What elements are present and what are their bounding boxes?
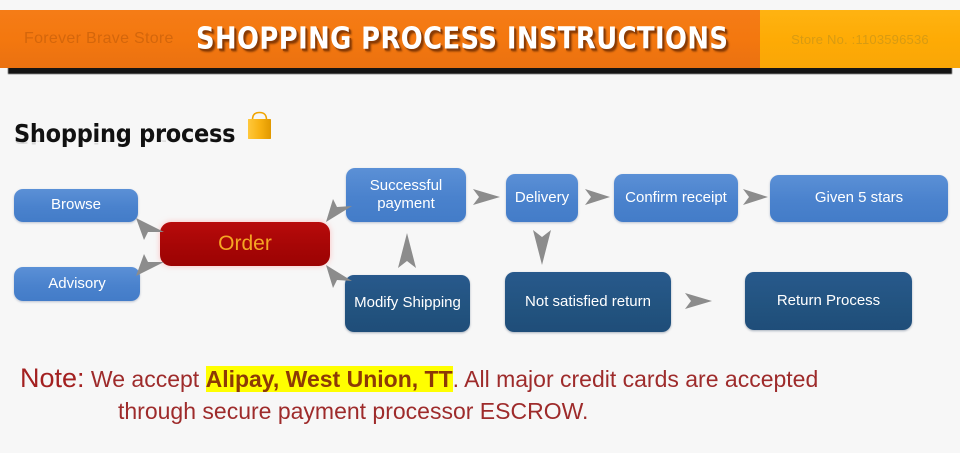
note-highlight-payment-methods: Alipay, West Union, TT (206, 366, 453, 392)
arrow-modify-shipping-to-successful-payment (396, 232, 418, 270)
flow-node-label: Given 5 stars (815, 189, 903, 207)
arrow-browse-to-order (134, 216, 168, 242)
flow-node-label: Confirm receipt (625, 189, 727, 207)
banner-bar: Forever Brave Store SHOPPING PROCESS INS… (0, 10, 960, 68)
arrow-delivery-to-not-satisfied-return (531, 228, 553, 266)
shopping-process-instructions-page: Forever Brave Store SHOPPING PROCESS INS… (0, 0, 960, 453)
flow-node-successful-payment[interactable]: Successful payment (346, 168, 466, 222)
shopping-bag-icon (243, 109, 276, 141)
flow-node-label: Advisory (48, 275, 106, 293)
banner-title: SHOPPING PROCESS INSTRUCTIONS (196, 22, 728, 57)
flow-node-advisory[interactable]: Advisory (14, 267, 140, 301)
section-heading: Shopping process Shopping process (14, 108, 260, 148)
flow-node-label: Not satisfied return (525, 293, 651, 311)
note-text-post: . All major credit cards are accepted (453, 366, 819, 392)
arrow-not-satisfied-return-to-return-process (684, 290, 714, 312)
flow-node-confirm-receipt[interactable]: Confirm receipt (614, 174, 738, 222)
arrow-successful-payment-to-delivery (472, 186, 502, 208)
store-number: Store No. :1103596536 (791, 32, 929, 47)
flow-node-browse[interactable]: Browse (14, 189, 138, 222)
flow-node-given-5-stars[interactable]: Given 5 stars (770, 175, 948, 222)
arrow-confirm-receipt-to-given-5-stars (742, 186, 770, 208)
note-line-2: through secure payment processor ESCROW. (118, 394, 588, 429)
shopping-process-flowchart: Browse Advisory Order Successful payment… (0, 160, 960, 345)
flow-node-order[interactable]: Order (160, 222, 330, 266)
arrow-order-to-successful-payment (324, 198, 356, 224)
note-line-1: Note: We accept Alipay, West Union, TT. … (20, 358, 818, 399)
flow-node-label: Modify Shipping (354, 294, 461, 312)
banner-left-panel: Forever Brave Store SHOPPING PROCESS INS… (0, 10, 760, 68)
flow-node-label: Successful payment (352, 177, 460, 214)
arrow-delivery-to-confirm-receipt (584, 186, 612, 208)
flow-node-return-process[interactable]: Return Process (745, 272, 912, 330)
flow-node-modify-shipping[interactable]: Modify Shipping (345, 275, 470, 332)
note-text-pre: We accept (85, 366, 206, 392)
arrow-order-to-modify-shipping (324, 263, 356, 289)
flow-node-label: Delivery (515, 189, 569, 207)
note-label: Note: (20, 363, 85, 393)
banner-right-panel: Store No. :1103596536 (760, 10, 960, 68)
flow-node-label: Return Process (777, 292, 880, 310)
store-name-watermark: Forever Brave Store (24, 30, 174, 48)
arrow-advisory-to-order (134, 252, 168, 278)
page-title: Shopping process (14, 119, 235, 148)
flow-node-label: Browse (51, 196, 101, 214)
header-banner: Forever Brave Store SHOPPING PROCESS INS… (0, 10, 960, 68)
flow-node-delivery[interactable]: Delivery (506, 174, 578, 222)
flow-node-label: Order (218, 231, 272, 257)
flow-node-not-satisfied-return[interactable]: Not satisfied return (505, 272, 671, 332)
